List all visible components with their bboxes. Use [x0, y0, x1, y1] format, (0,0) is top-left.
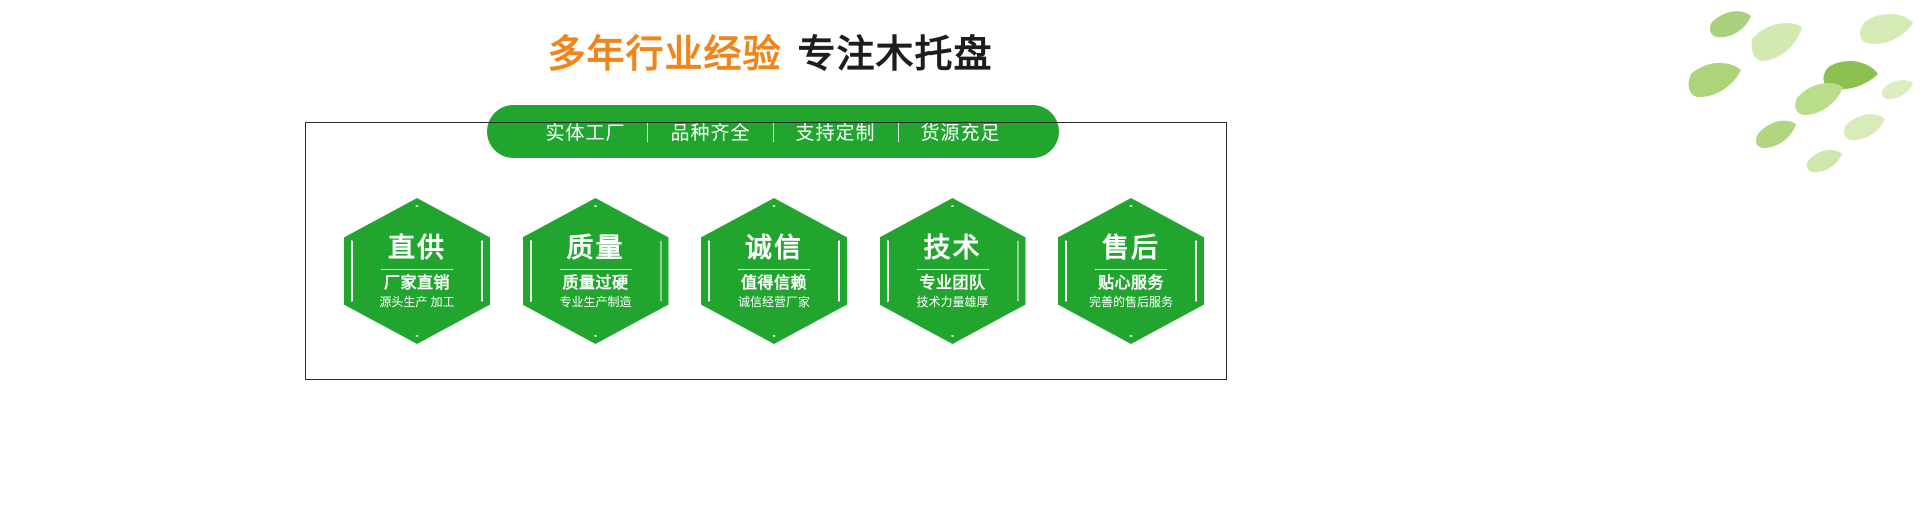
- hexagon-badge: 质量 质量过硬 专业生产制造: [523, 198, 669, 344]
- hexagon-subtitle: 质量过硬: [562, 275, 628, 293]
- leaf-icon: [1689, 63, 1741, 97]
- hexagon-title: 质量: [567, 234, 625, 262]
- hexagon-subtitle: 专业团队: [919, 275, 985, 293]
- leaf-icon: [1756, 121, 1796, 148]
- hexagon-title: 售后: [1102, 234, 1160, 262]
- hexagon-badge-row: 直供 厂家直销 源头生产 加工 质量 质量过硬 专业生产制造 诚信 值得信赖 诚…: [344, 198, 1204, 344]
- hexagon-divider: [381, 269, 453, 270]
- hexagon-title: 直供: [388, 234, 446, 262]
- leaf-icon: [1710, 11, 1751, 37]
- leaf-icon: [1752, 23, 1802, 61]
- leaf-icon: [1823, 61, 1878, 89]
- hexagon-caption: 源头生产 加工: [379, 296, 454, 310]
- leaf-icon: [1844, 114, 1885, 140]
- hexagon-content: 直供 厂家直销 源头生产 加工: [344, 198, 490, 344]
- hexagon-title: 技术: [924, 234, 982, 262]
- page-title: 多年行业经验专注木托盘: [0, 33, 1540, 79]
- hexagon-divider: [738, 269, 810, 270]
- hexagon-caption: 完善的售后服务: [1089, 296, 1173, 310]
- hexagon-content: 售后 贴心服务 完善的售后服务: [1058, 198, 1204, 344]
- hexagon-divider: [1095, 269, 1167, 270]
- headline-rest: 专注木托盘: [798, 34, 993, 76]
- headline-highlight: 多年行业经验: [547, 34, 781, 76]
- hexagon-divider: [917, 269, 989, 270]
- leaf-icon: [1882, 80, 1913, 99]
- hexagon-caption: 专业生产制造: [559, 296, 631, 310]
- hexagon-caption: 技术力量雄厚: [916, 296, 988, 310]
- hexagon-content: 质量 质量过硬 专业生产制造: [523, 198, 669, 344]
- hexagon-divider: [560, 269, 632, 270]
- hexagon-caption: 诚信经营厂家: [738, 296, 810, 310]
- hexagon-subtitle: 厂家直销: [384, 275, 450, 293]
- hexagon-badge: 技术 专业团队 技术力量雄厚: [880, 198, 1026, 344]
- hexagon-badge: 售后 贴心服务 完善的售后服务: [1058, 198, 1204, 344]
- hexagon-title: 诚信: [745, 234, 803, 262]
- leaf-icon: [1795, 83, 1843, 115]
- hexagon-badge: 直供 厂家直销 源头生产 加工: [344, 198, 490, 344]
- leaf-icon: [1807, 150, 1842, 172]
- hexagon-badge: 诚信 值得信赖 诚信经营厂家: [701, 198, 847, 344]
- hexagon-content: 技术 专业团队 技术力量雄厚: [880, 198, 1026, 344]
- hexagon-subtitle: 贴心服务: [1098, 275, 1164, 293]
- leaf-icon: [1860, 14, 1913, 44]
- hexagon-subtitle: 值得信赖: [741, 275, 807, 293]
- hexagon-content: 诚信 值得信赖 诚信经营厂家: [701, 198, 847, 344]
